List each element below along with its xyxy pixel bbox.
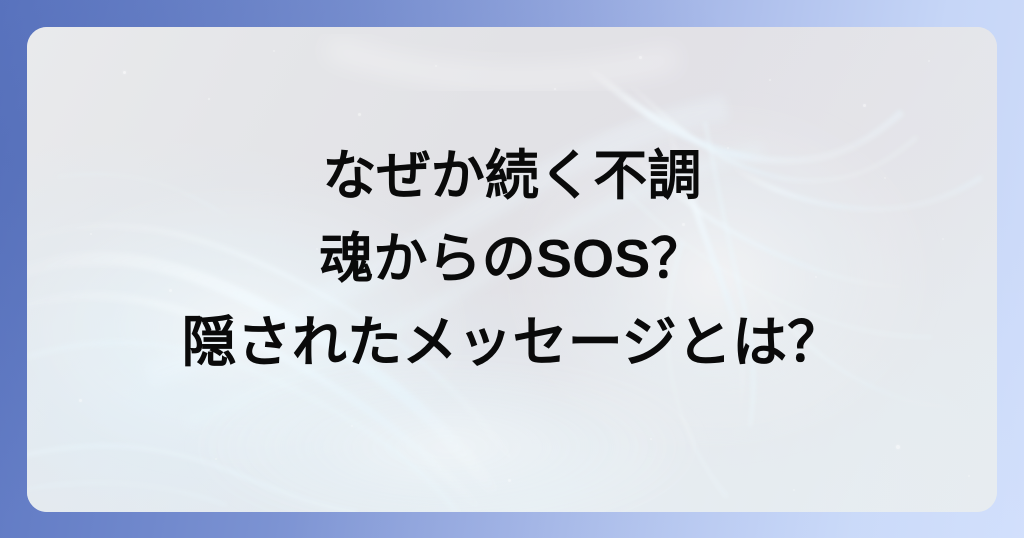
headline-line-3: 隠されたメッセージとは？ <box>27 315 997 370</box>
poster-canvas: なぜか続く不調 魂からのSOS？ 隠されたメッセージとは？ <box>0 0 1024 538</box>
poster-image-card: なぜか続く不調 魂からのSOS？ 隠されたメッセージとは？ <box>27 27 997 512</box>
headline-line-2: 魂からのSOS？ <box>27 232 997 286</box>
headline-line-1: なぜか続く不調 <box>27 149 997 203</box>
headline-block: なぜか続く不調 魂からのSOS？ 隠されたメッセージとは？ <box>27 149 997 370</box>
